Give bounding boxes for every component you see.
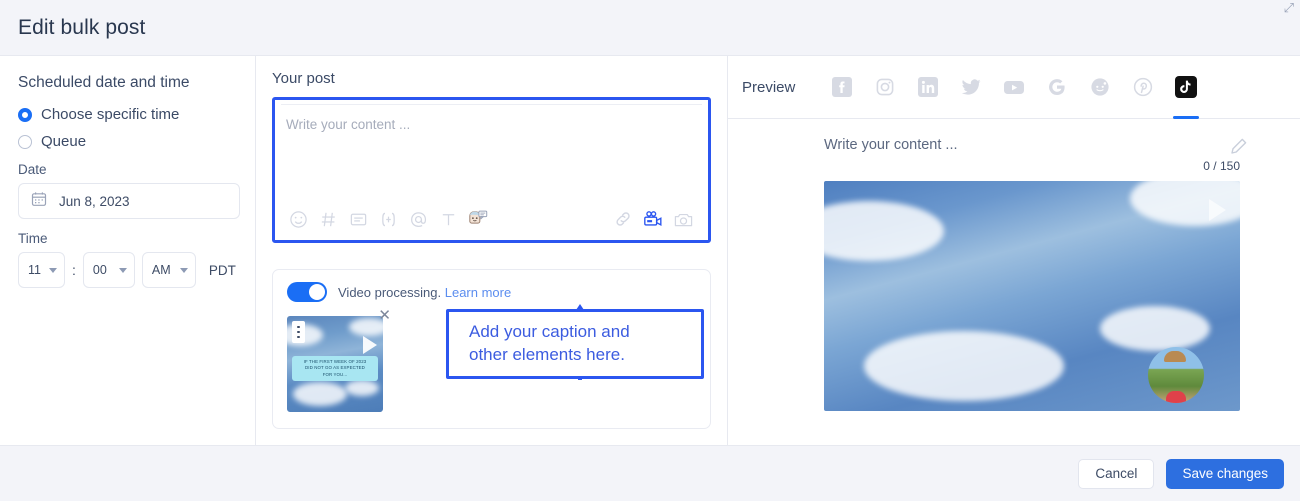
radio-icon-unselected[interactable] (18, 135, 32, 149)
time-separator: : (72, 262, 76, 278)
close-icon[interactable]: ✕ (378, 308, 391, 323)
time-label: Time (18, 231, 237, 246)
emoji-icon[interactable] (283, 206, 313, 232)
calendar-icon (31, 191, 47, 212)
mention-icon[interactable] (403, 206, 433, 232)
time-row: 11 : 00 AM PDT (18, 252, 237, 288)
link-icon[interactable] (608, 206, 638, 232)
radio-label-specific-time: Choose specific time (41, 106, 179, 123)
date-input[interactable]: Jun 8, 2023 (18, 183, 240, 219)
google-icon[interactable] (1046, 76, 1068, 98)
preview-panel: Preview (728, 56, 1300, 445)
preview-title: Preview (742, 79, 795, 96)
post-editor-highlighted[interactable]: Write your content ... (272, 97, 711, 243)
radio-icon-selected[interactable] (18, 108, 32, 122)
chevron-down-icon (119, 268, 127, 273)
camera-icon[interactable] (668, 206, 698, 232)
radio-choose-specific-time[interactable]: Choose specific time (18, 106, 237, 123)
minute-select[interactable]: 00 (83, 252, 135, 288)
annotation-text: Add your caption and other elements here… (469, 321, 630, 367)
editor-toolbar (275, 206, 708, 240)
avatar (1148, 347, 1204, 403)
ai-assistant-icon[interactable] (463, 206, 493, 232)
pinterest-icon[interactable] (1132, 76, 1154, 98)
tiktok-icon[interactable] (1175, 76, 1197, 98)
meridiem-value: AM (152, 263, 171, 277)
date-value: Jun 8, 2023 (59, 194, 130, 209)
cancel-button[interactable]: Cancel (1078, 459, 1154, 489)
preview-placeholder: Write your content ... (824, 137, 1240, 153)
meridiem-select[interactable]: AM (142, 252, 196, 288)
media-thumbnail-wrapper: IF THE FIRST WEEK OF 2023 DID NOT GO AS … (287, 316, 383, 412)
kebab-menu-icon[interactable] (292, 321, 305, 343)
modal-header: Edit bulk post (0, 0, 1300, 56)
youtube-icon[interactable] (1003, 76, 1025, 98)
schedule-section-title: Scheduled date and time (18, 74, 237, 92)
video-thumbnail[interactable]: IF THE FIRST WEEK OF 2023 DID NOT GO AS … (287, 316, 383, 412)
twitter-icon[interactable] (960, 76, 982, 98)
facebook-icon[interactable] (831, 76, 853, 98)
page-title: Edit bulk post (18, 16, 145, 40)
thumbnail-caption: IF THE FIRST WEEK OF 2023 DID NOT GO AS … (292, 356, 378, 381)
instagram-icon[interactable] (874, 76, 896, 98)
date-label: Date (18, 162, 237, 177)
video-icon[interactable] (638, 206, 668, 232)
timezone-label: PDT (209, 263, 236, 278)
minute-value: 00 (93, 263, 107, 277)
hour-select[interactable]: 11 (18, 252, 65, 288)
modal-body: Scheduled date and time Choose specific … (0, 56, 1300, 445)
hashtag-icon[interactable] (313, 206, 343, 232)
chevron-down-icon (49, 268, 57, 273)
radio-label-queue: Queue (41, 133, 86, 150)
caption-line-2: DID NOT GO AS EXPECTED (294, 365, 376, 371)
play-icon[interactable] (1209, 199, 1226, 221)
avatar-hat (1164, 351, 1186, 362)
avatar-figure (1166, 391, 1186, 403)
annotation-callout: Add your caption and other elements here… (446, 309, 704, 379)
hour-value: 11 (28, 263, 41, 277)
annotation-line-2: other elements here. (469, 344, 630, 367)
pencil-icon[interactable] (1230, 137, 1248, 160)
learn-more-link[interactable]: Learn more (445, 285, 511, 300)
text-lines-icon[interactable] (343, 206, 373, 232)
radio-queue[interactable]: Queue (18, 133, 237, 150)
character-counter: 0 / 150 (824, 159, 1240, 173)
annotation-line-1: Add your caption and (469, 321, 630, 344)
preview-content: Write your content ... 0 / 150 (728, 119, 1300, 411)
preview-header: Preview (728, 56, 1300, 118)
text-format-icon[interactable] (433, 206, 463, 232)
preview-media[interactable] (824, 181, 1240, 411)
post-composer-panel: Your post Write your content ... (256, 56, 728, 445)
resize-cursor-icon: ⤢ (1284, 0, 1294, 16)
variable-icon[interactable] (373, 206, 403, 232)
reddit-icon[interactable] (1089, 76, 1111, 98)
video-processing-toggle[interactable] (287, 282, 327, 302)
schedule-panel: Scheduled date and time Choose specific … (0, 56, 256, 445)
modal-footer: Cancel Save changes (0, 445, 1300, 501)
video-processing-row: Video processing. Learn more (287, 282, 696, 302)
edit-bulk-post-modal: Edit bulk post ⤢ Scheduled date and time… (0, 0, 1300, 501)
chevron-down-icon (180, 268, 188, 273)
linkedin-icon[interactable] (917, 76, 939, 98)
your-post-title: Your post (272, 70, 711, 87)
save-changes-button[interactable]: Save changes (1166, 459, 1284, 489)
video-processing-text: Video processing. (338, 285, 441, 300)
play-icon[interactable] (363, 336, 377, 354)
network-tabs (831, 76, 1197, 98)
caption-line-3: FOR YOU... (294, 372, 376, 378)
video-processing-label: Video processing. Learn more (338, 285, 511, 300)
post-content-placeholder[interactable]: Write your content ... (275, 105, 708, 132)
